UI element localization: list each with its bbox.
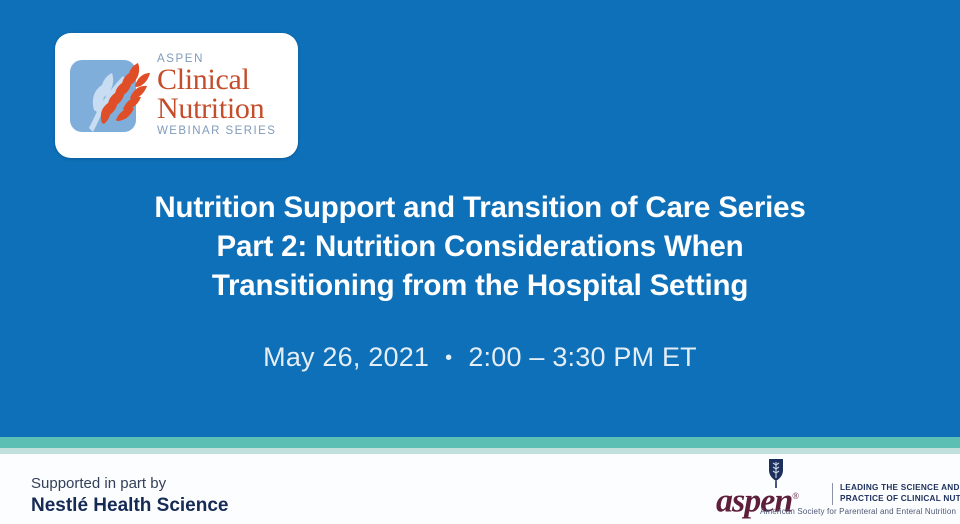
event-date: May 26, 2021 — [263, 342, 429, 372]
webinar-title-slide: ASPEN Clinical Nutrition WEBINAR SERIES … — [0, 0, 960, 524]
title-line-1: Nutrition Support and Transition of Care… — [0, 188, 960, 227]
aspen-tagline-line-2: PRACTICE OF CLINICAL NUTRITION — [840, 494, 960, 505]
logo-webinar-series-label: WEBINAR SERIES — [157, 126, 288, 138]
title-line-2: Part 2: Nutrition Considerations When — [0, 227, 960, 266]
event-datetime: May 26, 2021•2:00 – 3:30 PM ET — [0, 342, 960, 373]
wheat-stalk-icon — [69, 50, 151, 142]
logo-word-nutrition: Nutrition — [157, 95, 288, 123]
aspen-divider-rule — [832, 483, 833, 505]
aspen-tagline: LEADING THE SCIENCE AND PRACTICE OF CLIN… — [840, 483, 960, 504]
event-time: 2:00 – 3:30 PM ET — [468, 342, 697, 372]
webinar-series-logo-card: ASPEN Clinical Nutrition WEBINAR SERIES — [55, 33, 298, 158]
aspen-logo-lockup: aspen® LEADING THE SCIENCE AND PRACTICE … — [716, 457, 948, 519]
datetime-separator-bullet: • — [445, 347, 452, 370]
webinar-logo-text: ASPEN Clinical Nutrition WEBINAR SERIES — [157, 54, 288, 137]
teal-divider-band — [0, 437, 960, 448]
sponsor-prefix-label: Supported in part by — [31, 474, 228, 493]
page-title: Nutrition Support and Transition of Care… — [0, 188, 960, 305]
sponsor-block: Supported in part by Nestlé Health Scien… — [31, 474, 228, 518]
registered-trademark-mark: ® — [792, 491, 798, 501]
logo-word-clinical: Clinical — [157, 66, 288, 94]
sponsor-name-label: Nestlé Health Science — [31, 494, 228, 518]
title-line-3: Transitioning from the Hospital Setting — [0, 266, 960, 305]
aspen-tagline-line-1: LEADING THE SCIENCE AND — [840, 483, 960, 494]
aspen-subtitle: American Society for Parenteral and Ente… — [760, 507, 956, 516]
